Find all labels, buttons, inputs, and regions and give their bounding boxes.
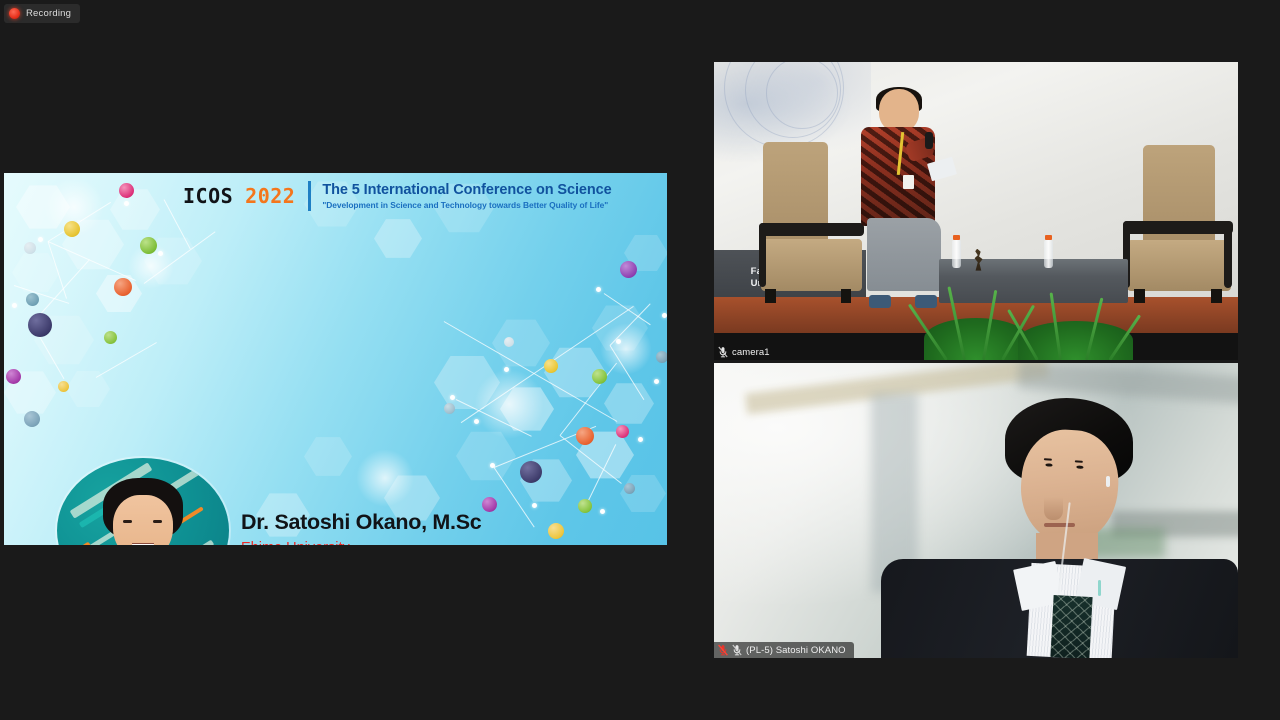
- moderator-shoe-left: [869, 295, 891, 308]
- recording-label: Recording: [26, 8, 71, 19]
- speaker-portrait: [57, 458, 229, 545]
- portrait-eye-left: [123, 520, 132, 523]
- pin-icon: [732, 644, 742, 656]
- speaker-video-figure: [850, 398, 1238, 658]
- video-tile-camera1[interactable]: Faculty o Universi: [714, 62, 1238, 360]
- speaker-nose: [1044, 497, 1063, 520]
- tile-label-satoshi-okano: (PL-5) Satoshi OKANO: [714, 642, 854, 658]
- moderator-head: [879, 89, 919, 132]
- moderator-shoe-right: [915, 295, 937, 308]
- moderator-name-badge: [903, 175, 914, 189]
- mic-muted-icon: [718, 346, 728, 358]
- water-bottle-1: [952, 240, 961, 268]
- speaker-name: Dr. Satoshi Okano, M.Sc: [241, 510, 481, 535]
- conference-title: The 5 International Conference on Scienc…: [322, 182, 611, 198]
- water-bottle-2: [1044, 240, 1053, 268]
- icos-logo-text: ICOS: [183, 184, 233, 208]
- conference-tagline: "Development in Science and Technology t…: [322, 200, 611, 210]
- portrait-eye-right: [153, 520, 162, 523]
- speaker-mouth: [1044, 523, 1075, 527]
- stage-table: [939, 259, 1128, 304]
- speaker-photo-wrapper: [57, 458, 229, 545]
- record-dot-icon: [9, 8, 20, 19]
- icos-logo-year: 2022: [245, 184, 295, 208]
- video-tile-satoshi-okano[interactable]: (PL-5) Satoshi OKANO: [714, 363, 1238, 658]
- mic-muted-red-icon: [718, 644, 728, 656]
- tile-label-camera1: camera1: [714, 344, 778, 360]
- tile-label-text: camera1: [732, 347, 770, 358]
- foreground-plant-2: [1018, 321, 1133, 360]
- portrait-mouth: [132, 543, 154, 545]
- foreground-plant-1: [924, 318, 1029, 360]
- speaker-affiliation: Ehime University: [241, 540, 350, 545]
- armchair-right: [1123, 145, 1233, 303]
- tile-label-text: (PL-5) Satoshi OKANO: [746, 645, 846, 656]
- armchair-left: [761, 142, 866, 303]
- conference-heading-group: The 5 International Conference on Scienc…: [322, 182, 611, 210]
- shared-screen-slide[interactable]: ICOS 2022 The 5 International Conference…: [4, 173, 667, 545]
- microphone-icon: [925, 132, 933, 149]
- slide-header: ICOS 2022 The 5 International Conference…: [4, 173, 667, 219]
- header-divider: [308, 181, 311, 211]
- moderator-legs: [867, 218, 941, 291]
- earphone-icon: [1106, 476, 1110, 487]
- meeting-canvas: Recording: [0, 0, 1280, 720]
- recording-indicator: Recording: [4, 4, 80, 23]
- portrait-face: [113, 495, 173, 545]
- collar-stay: [1098, 580, 1101, 596]
- speaker-necktie: [1050, 595, 1092, 658]
